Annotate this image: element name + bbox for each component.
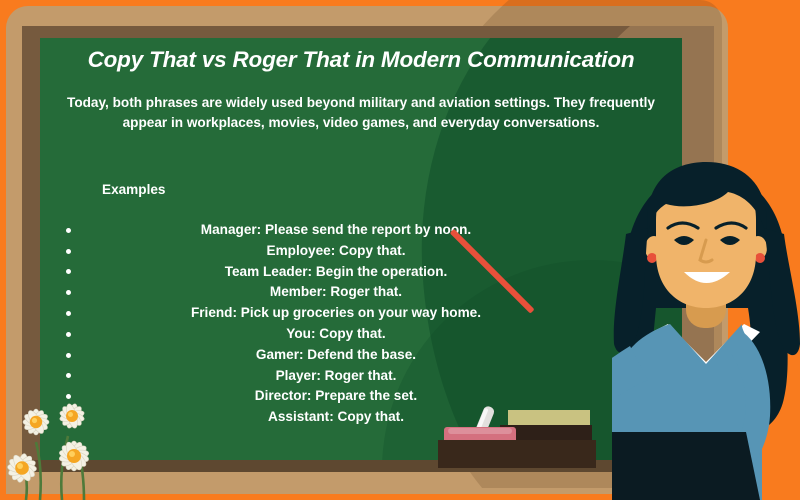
- bullet-icon: [66, 332, 71, 337]
- daisy-2: [59, 403, 85, 429]
- list-item-label: Assistant: Copy that.: [268, 409, 404, 424]
- list-item-label: Gamer: Defend the base.: [256, 347, 416, 362]
- examples-heading: Examples: [102, 182, 165, 197]
- list-item-label: Player: Roger that.: [276, 368, 397, 383]
- board-eraser-highlight: [448, 428, 512, 434]
- bullet-icon: [66, 290, 71, 295]
- tray-shelf-lower: [438, 440, 596, 468]
- list-item: Member: Roger that.: [40, 282, 682, 303]
- list-item-label: Employee: Copy that.: [267, 243, 406, 258]
- earring-right: [755, 253, 765, 263]
- list-item-label: Team Leader: Begin the operation.: [225, 264, 448, 279]
- list-item: Gamer: Defend the base.: [40, 345, 682, 366]
- daisy-flowers: [0, 380, 150, 500]
- bullet-icon: [66, 311, 71, 316]
- bullet-icon: [66, 353, 71, 358]
- bullet-icon: [66, 249, 71, 254]
- daisy-1: [22, 408, 49, 435]
- list-item-label: Manager: Please send the report by noon.: [201, 222, 471, 237]
- intro-paragraph: Today, both phrases are widely used beyo…: [64, 93, 658, 132]
- list-item-label: Director: Prepare the set.: [255, 388, 417, 403]
- list-item: Team Leader: Begin the operation.: [40, 262, 682, 283]
- list-item-label: You: Copy that.: [286, 326, 385, 341]
- list-item: Employee: Copy that.: [40, 241, 682, 262]
- daisy-4: [7, 453, 38, 483]
- poster-canvas: Copy That vs Roger That in Modern Commun…: [0, 0, 800, 500]
- list-item: You: Copy that.: [40, 324, 682, 345]
- skirt: [612, 432, 760, 500]
- list-item: Friend: Pick up groceries on your way ho…: [40, 303, 682, 324]
- list-item-label: Friend: Pick up groceries on your way ho…: [191, 305, 481, 320]
- list-item-label: Member: Roger that.: [270, 284, 402, 299]
- earring-left: [647, 253, 657, 263]
- bullet-icon: [66, 269, 71, 274]
- bullet-icon: [66, 228, 71, 233]
- list-item: Manager: Please send the report by noon.: [40, 220, 682, 241]
- teacher-character: [612, 148, 800, 500]
- bullet-icon: [66, 373, 71, 378]
- page-title: Copy That vs Roger That in Modern Commun…: [40, 47, 682, 73]
